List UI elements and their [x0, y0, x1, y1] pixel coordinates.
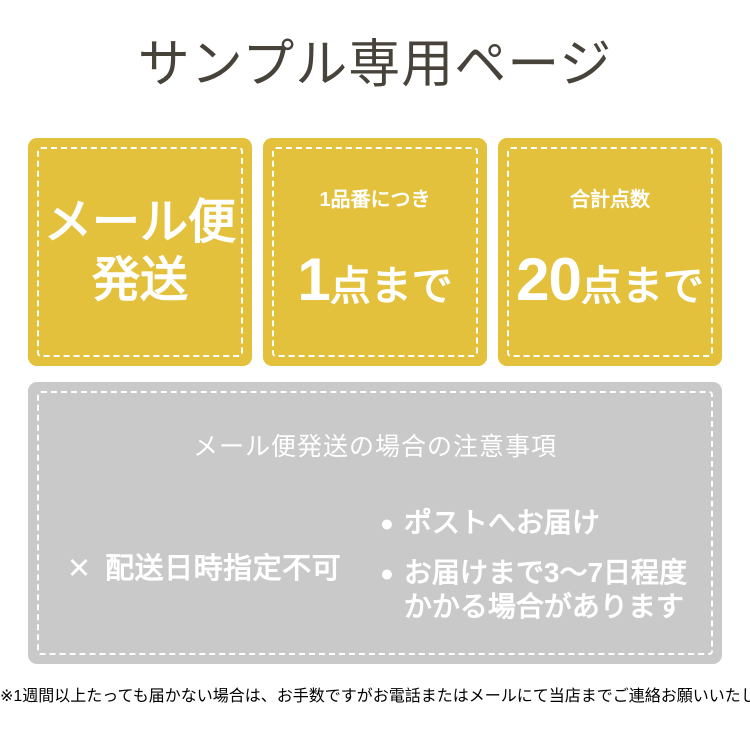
page-title: サンプル専用ページ: [0, 34, 750, 96]
list-item-text: ポストへお届け: [404, 506, 600, 540]
card-per-item-limit: 1品番につき 1 点まで: [263, 138, 487, 366]
list-item-text: お届けまで3〜7日程度 かかる場合があります: [404, 556, 687, 624]
card-per-item-limit-unit: 点まで: [330, 256, 453, 316]
list-item: ● お届けまで3〜7日程度 かかる場合があります: [380, 556, 722, 624]
notice-body: ✕ 配送日時指定不可 ● ポストへお届け ● お届けまで3〜7日程度 かかる場合…: [28, 504, 722, 634]
notice-right-column: ● ポストへお届け ● お届けまで3〜7日程度 かかる場合があります: [380, 504, 722, 624]
card-total-limit-label: 合計点数: [570, 188, 650, 212]
notice-left-column: ✕ 配送日時指定不可: [28, 504, 380, 634]
list-item-line2: かかる場合があります: [404, 590, 687, 624]
bullet-dot-icon: ●: [380, 506, 394, 540]
card-shipping-method-line2: 発送: [92, 252, 188, 310]
notice-panel: メール便発送の場合の注意事項 ✕ 配送日時指定不可 ● ポストへお届け ● お届…: [28, 382, 722, 664]
footer-note: ※1週間以上たっても届かない場合は、お手数ですがお電話またはメールにて当店までご…: [0, 686, 750, 708]
no-date-designation-label: 配送日時指定不可: [105, 555, 341, 584]
card-shipping-method: メール便 発送: [28, 138, 252, 366]
feature-card-row: メール便 発送 1品番につき 1 点まで 合計点数 20 点まで: [28, 138, 722, 366]
card-total-limit-content: 合計点数 20 点まで: [498, 138, 722, 366]
card-shipping-method-content: メール便 発送: [28, 138, 252, 366]
card-per-item-limit-content: 1品番につき 1 点まで: [263, 138, 487, 366]
card-shipping-method-line1: メール便: [44, 194, 236, 252]
list-item-line1: ポストへお届け: [404, 507, 600, 538]
card-total-limit-number: 20: [516, 250, 581, 310]
card-total-limit-value: 20 点まで: [516, 250, 704, 316]
notice-heading: メール便発送の場合の注意事項: [28, 432, 722, 462]
card-per-item-limit-number: 1: [297, 250, 329, 310]
card-total-limit: 合計点数 20 点まで: [498, 138, 722, 366]
no-date-designation-item: ✕ 配送日時指定不可: [67, 555, 341, 584]
cross-icon: ✕: [67, 555, 91, 584]
card-per-item-limit-value: 1 点まで: [297, 250, 452, 316]
list-item-line1: お届けまで3〜7日程度: [404, 557, 687, 588]
list-item: ● ポストへお届け: [380, 506, 722, 540]
card-per-item-limit-label: 1品番につき: [319, 188, 430, 212]
card-total-limit-unit: 点まで: [581, 256, 704, 316]
bullet-dot-icon: ●: [380, 556, 394, 590]
